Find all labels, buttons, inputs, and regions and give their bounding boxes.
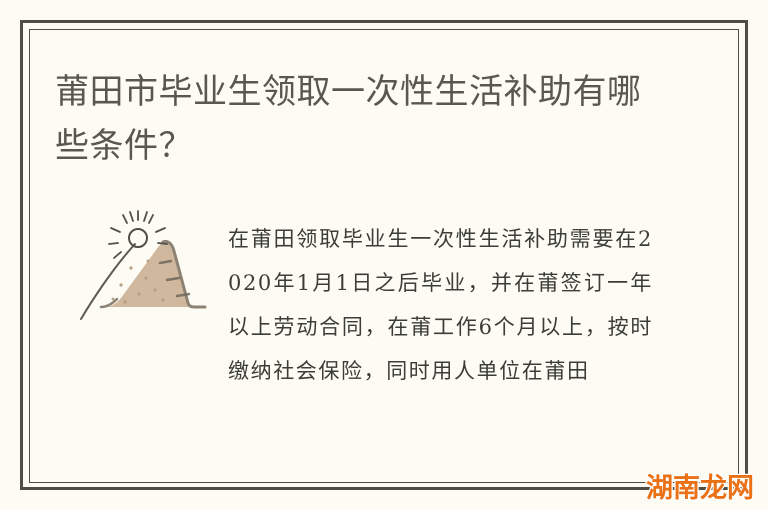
article-card: 莆田市毕业生领取一次性生活补助有哪些条件？ [0,0,768,510]
sand-dune-with-sun-icon [55,206,215,326]
site-watermark: 湖南龙网 [646,475,754,502]
article-body: 在莆田领取毕业生一次性生活补助需要在2020年1月1日之后毕业，并在莆签订一年以… [228,217,653,393]
card-content: 莆田市毕业生领取一次性生活补助有哪些条件？ [31,31,738,482]
page-title: 莆田市毕业生领取一次性生活补助有哪些条件？ [55,65,655,173]
